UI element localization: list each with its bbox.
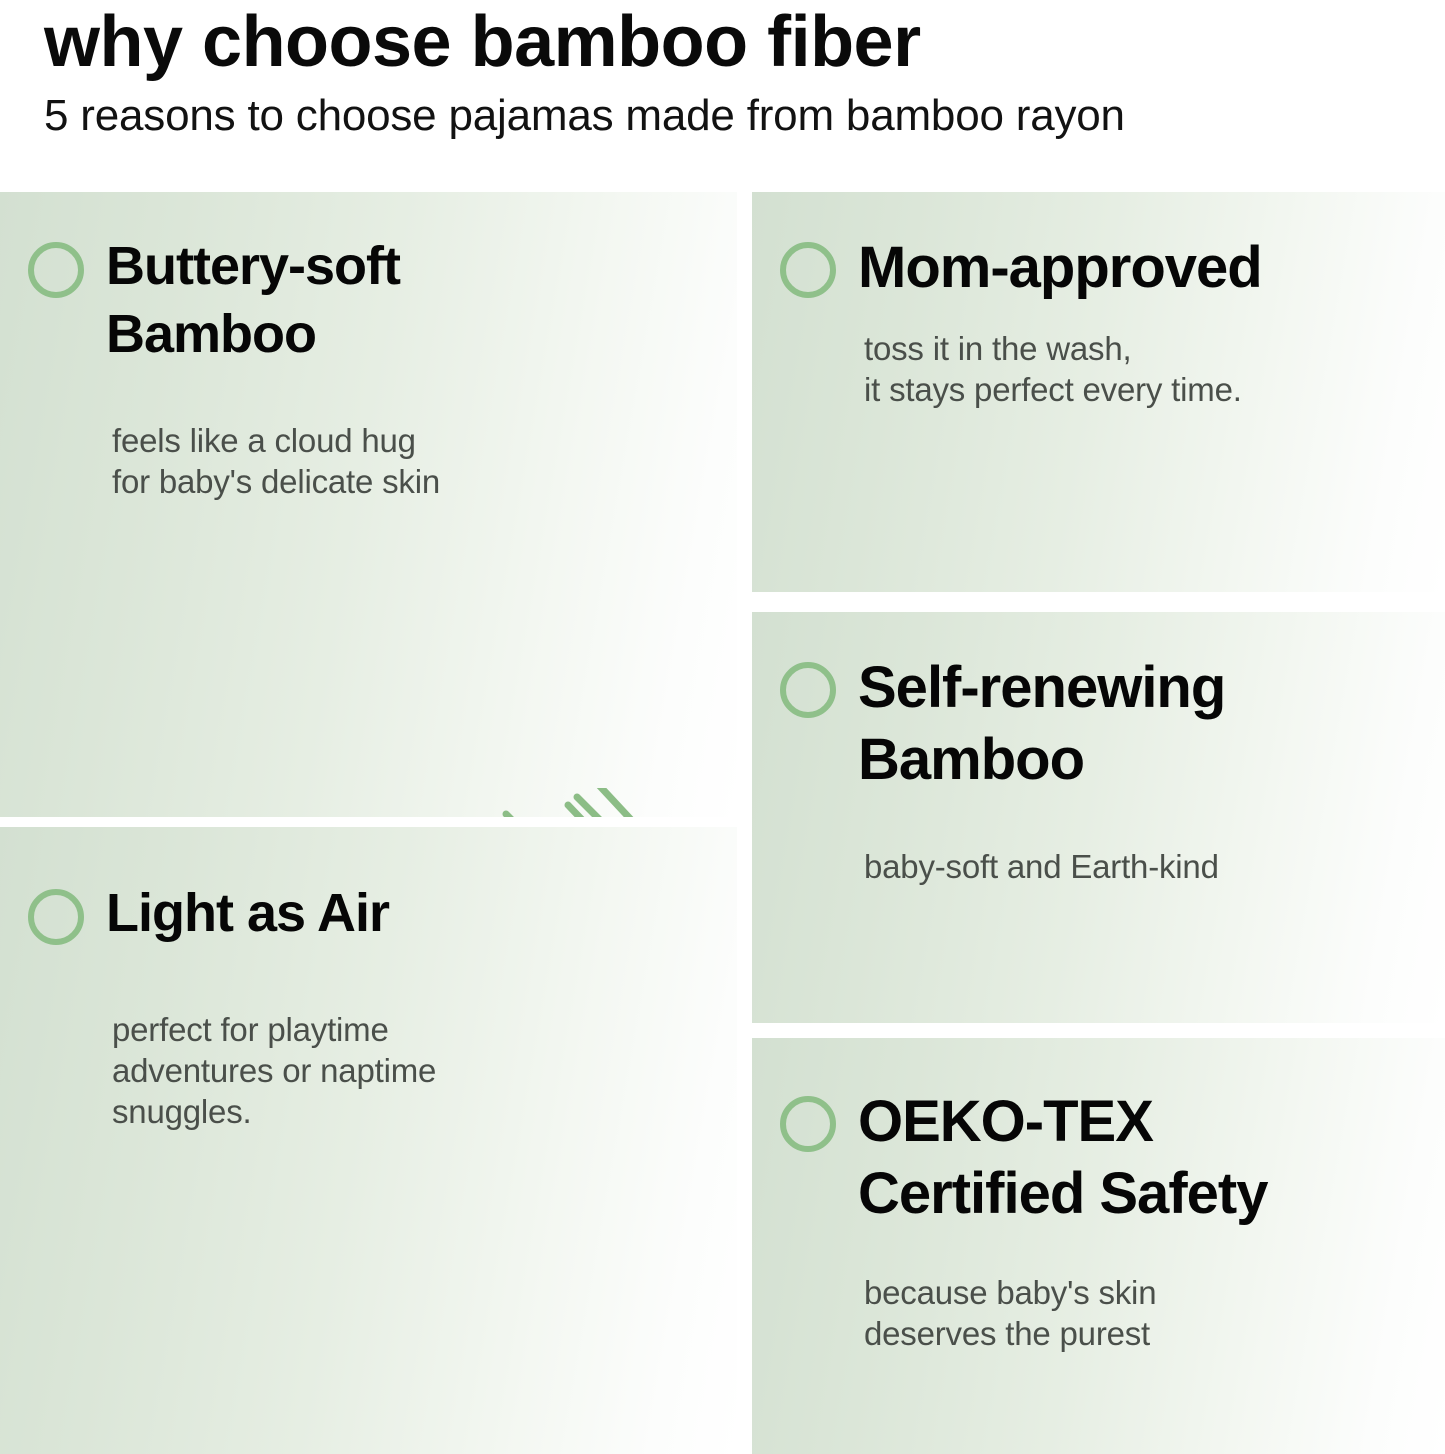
- page-subtitle: 5 reasons to choose pajamas made from ba…: [44, 82, 1445, 142]
- card-title: Buttery-soft Bamboo: [106, 232, 400, 368]
- card-header: Buttery-soft Bamboo: [28, 232, 737, 368]
- hand-touch-icon: [470, 788, 670, 817]
- card-light-as-air: Light as Air perfect for playtime advent…: [0, 827, 737, 1454]
- bullet-circle-icon: [28, 242, 84, 298]
- card-subtitle: baby-soft and Earth-kind: [864, 846, 1445, 887]
- card-mom-approved: Mom-approved toss it in the wash, it sta…: [752, 192, 1445, 592]
- card-oeko-tex-certified-safety: OEKO-TEX Certified Safety because baby's…: [752, 1038, 1445, 1454]
- bullet-circle-icon: [28, 889, 84, 945]
- header: why choose bamboo fiber 5 reasons to cho…: [0, 0, 1445, 190]
- card-title: Mom-approved: [858, 232, 1262, 304]
- card-header: Mom-approved: [780, 232, 1445, 304]
- page-title: why choose bamboo fiber: [44, 0, 1445, 82]
- card-subtitle: toss it in the wash, it stays perfect ev…: [864, 328, 1445, 410]
- card-title: OEKO-TEX Certified Safety: [858, 1086, 1267, 1230]
- card-header: Light as Air: [28, 879, 737, 947]
- card-title: Self-renewing Bamboo: [858, 652, 1225, 796]
- card-subtitle: feels like a cloud hug for baby's delica…: [112, 420, 737, 502]
- card-subtitle: because baby's skin deserves the purest: [864, 1272, 1445, 1354]
- card-self-renewing-bamboo: Self-renewing Bamboo baby-soft and Earth…: [752, 612, 1445, 1023]
- card-header: Self-renewing Bamboo: [780, 652, 1445, 796]
- bullet-circle-icon: [780, 1096, 836, 1152]
- card-header: OEKO-TEX Certified Safety: [780, 1086, 1445, 1230]
- bullet-circle-icon: [780, 662, 836, 718]
- card-title: Light as Air: [106, 879, 389, 947]
- bullet-circle-icon: [780, 242, 836, 298]
- card-subtitle: perfect for playtime adventures or napti…: [112, 1009, 737, 1132]
- card-buttery-soft-bamboo: Buttery-soft Bamboo feels like a cloud h…: [0, 192, 737, 817]
